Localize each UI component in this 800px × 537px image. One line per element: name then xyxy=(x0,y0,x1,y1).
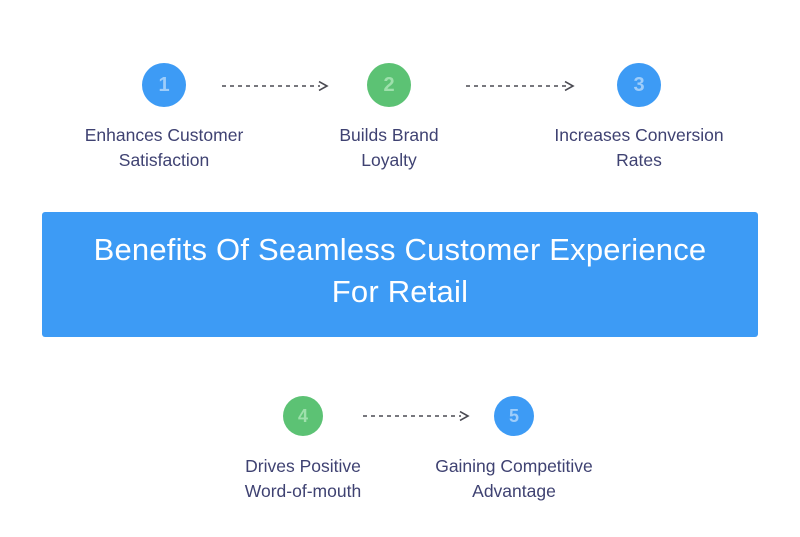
step-4-badge: 4 xyxy=(283,396,323,436)
step-5: 5 Gaining Competitive Advantage xyxy=(424,396,604,504)
step-3: 3 Increases Conversion Rates xyxy=(529,63,749,173)
step-1-badge: 1 xyxy=(142,63,186,107)
main-banner: Benefits Of Seamless Customer Experience… xyxy=(42,212,758,337)
step-5-badge: 5 xyxy=(494,396,534,436)
step-3-badge: 3 xyxy=(617,63,661,107)
step-2-number: 2 xyxy=(383,75,394,95)
step-5-label: Gaining Competitive Advantage xyxy=(435,454,593,504)
step-2-label: Builds Brand Loyalty xyxy=(339,123,438,173)
step-2: 2 Builds Brand Loyalty xyxy=(304,63,474,173)
step-4-label: Drives Positive Word-of-mouth xyxy=(245,454,361,504)
step-3-number: 3 xyxy=(633,75,644,95)
banner-title: Benefits Of Seamless Customer Experience… xyxy=(94,229,707,311)
infographic-canvas: 1 Enhances Customer Satisfaction 2 Build… xyxy=(0,0,800,537)
step-3-label: Increases Conversion Rates xyxy=(554,123,723,173)
step-4-number: 4 xyxy=(298,407,308,425)
step-2-badge: 2 xyxy=(367,63,411,107)
step-1-label: Enhances Customer Satisfaction xyxy=(85,123,244,173)
step-5-number: 5 xyxy=(509,407,519,425)
step-1-number: 1 xyxy=(158,75,169,95)
